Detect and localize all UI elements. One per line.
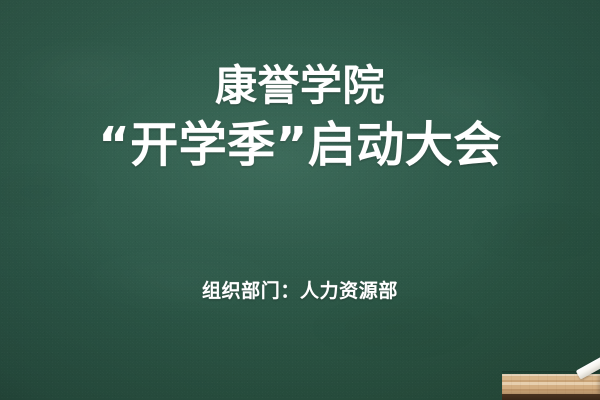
slide-content: 康誉学院 “开学季”启动大会 组织部门：人力资源部 — [0, 0, 600, 400]
chalk-ledge-wood-grain — [502, 374, 600, 394]
slide-title: 康誉学院 “开学季”启动大会 — [0, 60, 600, 176]
slide-subtitle-organizer: 组织部门：人力资源部 — [0, 276, 600, 303]
chalk-ledge-base — [502, 394, 600, 400]
title-line-institution: 康誉学院 — [0, 60, 600, 112]
presentation-slide: 康誉学院 “开学季”启动大会 组织部门：人力资源部 — [0, 0, 600, 400]
chalk-ledge — [502, 374, 600, 400]
title-line-event: “开学季”启动大会 — [0, 114, 600, 176]
